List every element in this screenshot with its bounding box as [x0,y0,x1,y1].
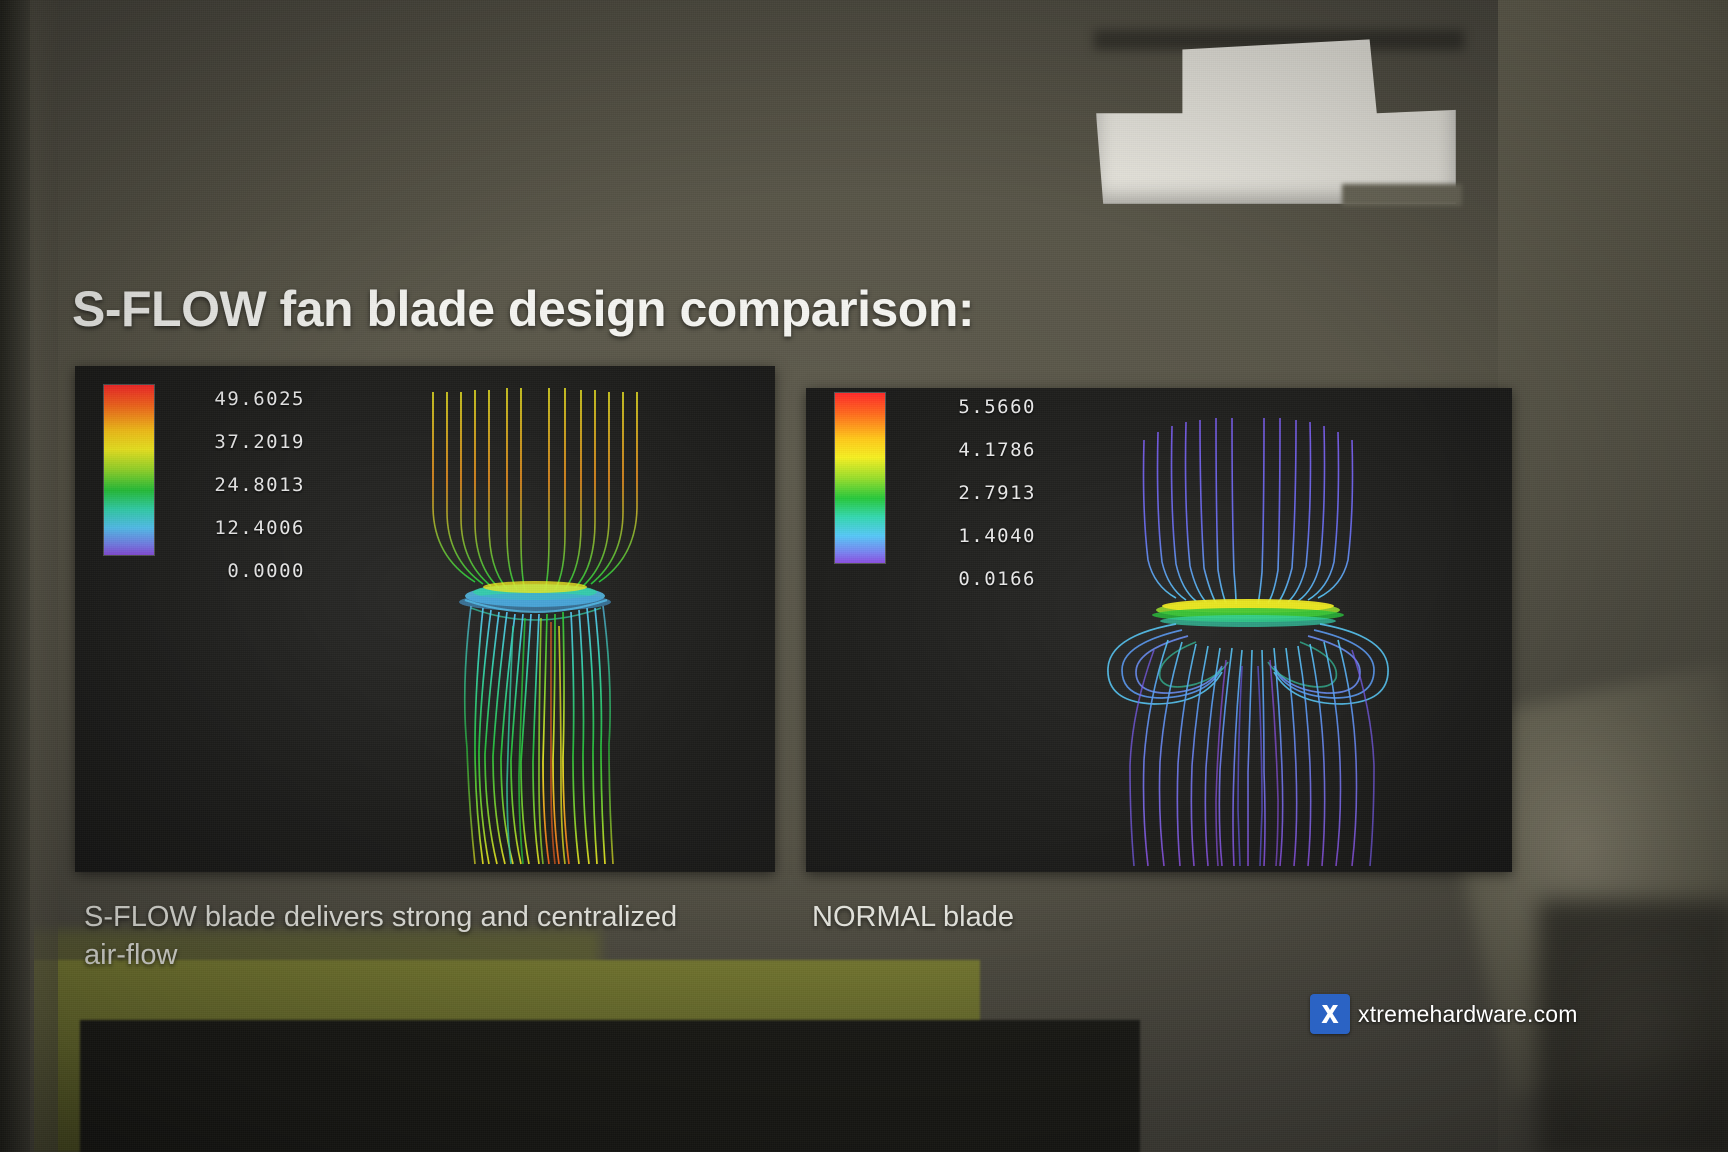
colorbar-tick-2: 24.8013 [165,464,305,507]
colorbar-gradient [834,392,886,564]
colorbar-tick-1: 4.1786 [896,429,1036,472]
package-left-edge-highlight [30,0,58,1152]
streamline-plot-sflow [325,386,745,866]
colorbar-tick-0: 5.5660 [896,388,1036,429]
colorbar-tick-3: 1.4040 [896,515,1036,558]
colorbar-tick-1: 37.2019 [165,421,305,464]
watermark-text: xtremehardware.com [1358,1001,1578,1028]
colorbar-labels: 5.5660 4.1786 2.7913 1.4040 0.0166 [896,388,1036,601]
colorbar-gradient [103,384,155,556]
hang-tab-notch [1342,184,1462,206]
background-bottom-dark-band [80,1020,1140,1152]
watermark-x-icon [1310,994,1350,1034]
caption-sflow: S-FLOW blade delivers strong and central… [84,898,704,975]
hang-tab-cutout [1096,36,1456,204]
page-title: S-FLOW fan blade design comparison: [72,280,1272,338]
package-left-edge [0,0,34,1152]
colorbar-tick-3: 12.4006 [165,507,305,550]
colorbar-tick-2: 2.7913 [896,472,1036,515]
cfd-panel-sflow: 49.6025 37.2019 24.8013 12.4006 0.0000 [75,366,775,872]
colorbar-tick-4: 0.0166 [896,558,1036,601]
watermark: xtremehardware.com [1310,992,1712,1036]
cfd-panel-normal: 5.5660 4.1786 2.7913 1.4040 0.0166 [806,388,1512,872]
streamline-plot-normal [1036,410,1496,868]
caption-normal: NORMAL blade [812,898,1272,936]
colorbar-tick-0: 49.6025 [165,378,305,421]
hang-tab-shape [1096,36,1456,204]
colorbar-tick-4: 0.0000 [165,550,305,593]
colorbar-labels: 49.6025 37.2019 24.8013 12.4006 0.0000 [165,378,305,593]
